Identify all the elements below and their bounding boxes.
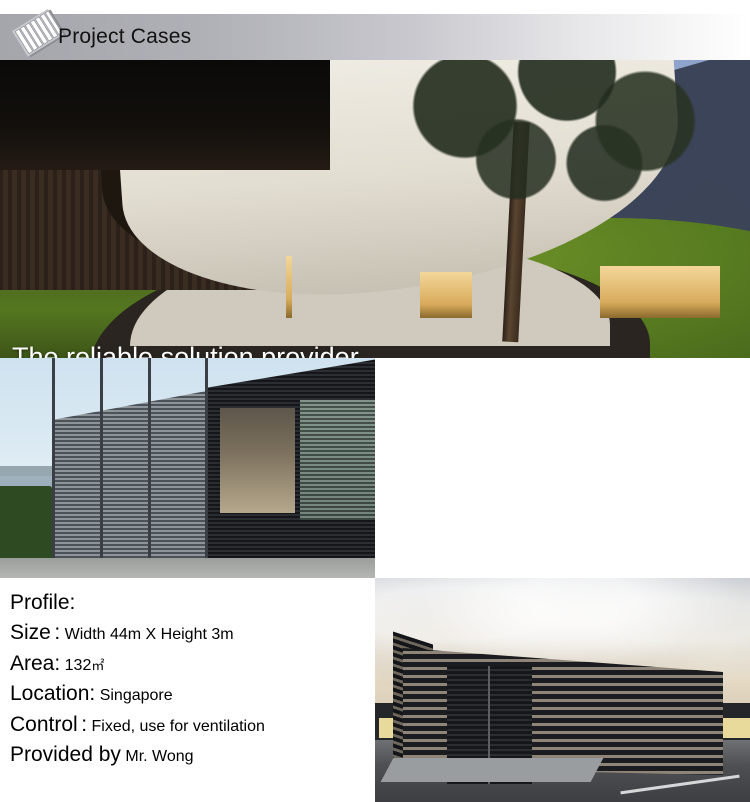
case-1-window-1 [220, 408, 295, 513]
case-2-kerb [381, 758, 604, 782]
case-2-field-provided-by: Provided by Mr. Wong [10, 744, 375, 765]
case-1-mullion-2 [100, 358, 103, 570]
case-1-mullion-4 [205, 358, 208, 570]
hero-tree-foliage [380, 60, 720, 220]
case-1-image [0, 358, 375, 578]
case-1-mullion-1 [52, 358, 55, 570]
case-row-1: Profile: Size : Width 12.5m X Height 3.5… [0, 358, 750, 578]
case-2-field-location: Location: Singapore [10, 683, 375, 704]
case-2-field-size: Size : Width 44m X Height 3m [10, 622, 375, 643]
hero-window-3 [600, 266, 720, 318]
page-title: Project Cases [58, 25, 191, 49]
case-1-terrace [0, 558, 375, 578]
page-header: Project Cases [0, 14, 750, 60]
case-2-field-control: Control : Fixed, use for ventilation [10, 714, 375, 735]
case-1-window-2 [300, 400, 375, 520]
case-2-image [375, 578, 750, 802]
hero-window-2 [420, 272, 472, 318]
case-2-profile-heading: Profile: [10, 592, 375, 613]
project-cases-page: Project Cases The reliable solution prov… [0, 0, 750, 802]
case-2-field-area: Area: 132㎡ [10, 653, 375, 674]
hero-banner: The reliable solution provider ----for d… [0, 60, 750, 358]
case-2-profile-panel: Profile: Size : Width 44m X Height 3m Ar… [0, 578, 375, 802]
case-1-mullion-3 [148, 358, 151, 570]
hero-window-1 [286, 256, 292, 318]
hero-headline: The reliable solution provider [12, 342, 359, 358]
hero-wall-shadow [0, 60, 330, 170]
